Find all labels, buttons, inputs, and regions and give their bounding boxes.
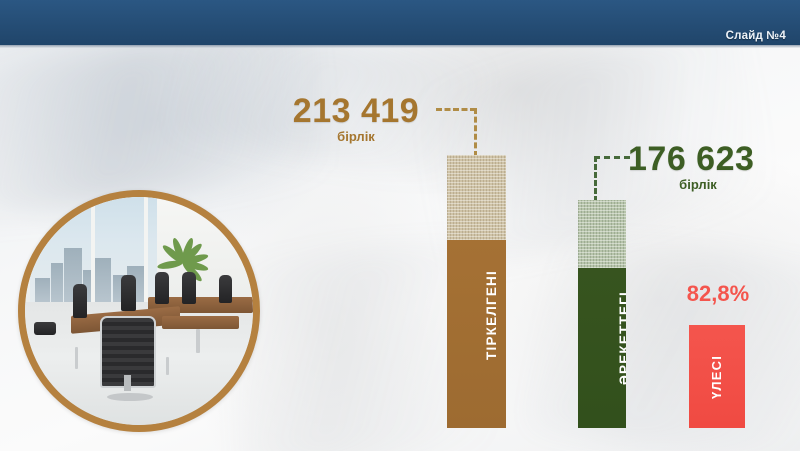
- photo-chair-pole: [124, 375, 131, 391]
- photo-chair: [182, 272, 196, 304]
- header-bar: [0, 0, 800, 45]
- office-photo-inner: [25, 197, 253, 425]
- bar-active-label: ӘРЕКЕТТЕГІ: [578, 328, 626, 348]
- value-active-unit: бірлік: [628, 177, 796, 192]
- photo-chair: [73, 284, 87, 318]
- connector-active-vertical: [594, 156, 597, 202]
- connector-registered-vertical: [474, 108, 477, 157]
- bar-registered-cap: [447, 155, 506, 240]
- value-registered: 213 419 бірлік: [272, 92, 440, 144]
- value-active-number: 176 623: [628, 140, 796, 179]
- slide-number: Слайд №4: [726, 30, 786, 42]
- photo-desk: [162, 316, 240, 330]
- slide-root: КӘСІПКЕРЛІК Слайд №4: [0, 0, 800, 451]
- photo-chair: [155, 272, 169, 304]
- photo-chair: [121, 275, 136, 311]
- bar-registered-label-text: ТІРКЕЛГЕНІ: [482, 270, 502, 360]
- bar-active-cap: [578, 200, 626, 268]
- bar-share-label-text: ҮЛЕСІ: [707, 355, 727, 399]
- office-photo: [18, 190, 260, 432]
- bar-active: ӘРЕКЕТТЕГІ: [578, 200, 626, 428]
- photo-chair: [219, 275, 232, 303]
- bar-active-label-text: ӘРЕКЕТТЕГІ: [615, 291, 626, 385]
- bar-registered: ТІРКЕЛГЕНІ: [447, 155, 506, 428]
- bar-share: ҮЛЕСІ: [689, 325, 745, 428]
- background-streak: [528, 230, 800, 451]
- value-registered-number: 213 419: [272, 92, 440, 131]
- value-share-percent: 82,8%: [666, 281, 770, 307]
- value-active: 176 623 бірлік: [628, 140, 796, 192]
- connector-registered-horizontal: [436, 108, 476, 111]
- bar-share-label: ҮЛЕСІ: [689, 367, 745, 387]
- photo-chair: [34, 322, 56, 335]
- header-underline: [0, 45, 800, 48]
- connector-active-horizontal: [594, 156, 630, 159]
- bar-registered-label: ТІРКЕЛГЕНІ: [447, 305, 506, 325]
- value-registered-unit: бірлік: [272, 129, 440, 144]
